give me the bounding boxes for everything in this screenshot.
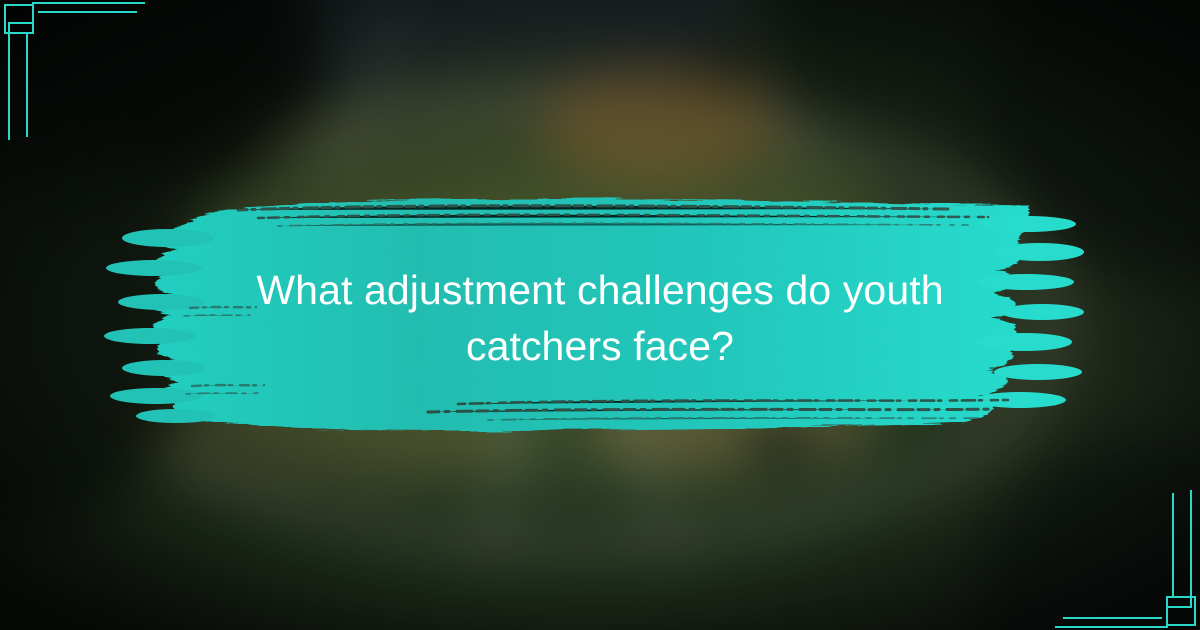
br-outer-vertical	[1190, 490, 1192, 608]
br-square-bottom	[1168, 624, 1196, 626]
br-outer-elbow	[1166, 606, 1192, 608]
tl-outer-step	[32, 2, 34, 24]
tl-outer-horizontal	[32, 2, 145, 4]
tl-outer-vertical	[8, 22, 10, 140]
br-outer-horizontal	[1055, 626, 1168, 628]
corner-bracket-bottom-right	[1030, 480, 1200, 630]
tl-inner-horizontal	[38, 11, 137, 13]
br-outer-step	[1166, 606, 1168, 628]
tl-outer-elbow	[8, 22, 34, 24]
br-inner-horizontal	[1063, 617, 1162, 619]
social-card: What adjustment challenges do youth catc…	[0, 0, 1200, 630]
tl-inner-vertical	[26, 33, 28, 137]
tl-square-left	[4, 4, 6, 34]
page-title: What adjustment challenges do youth catc…	[170, 262, 1030, 374]
tl-square-top	[4, 4, 32, 6]
br-square-right	[1194, 596, 1196, 626]
br-inner-vertical	[1172, 493, 1174, 597]
corner-bracket-top-left	[0, 0, 170, 150]
